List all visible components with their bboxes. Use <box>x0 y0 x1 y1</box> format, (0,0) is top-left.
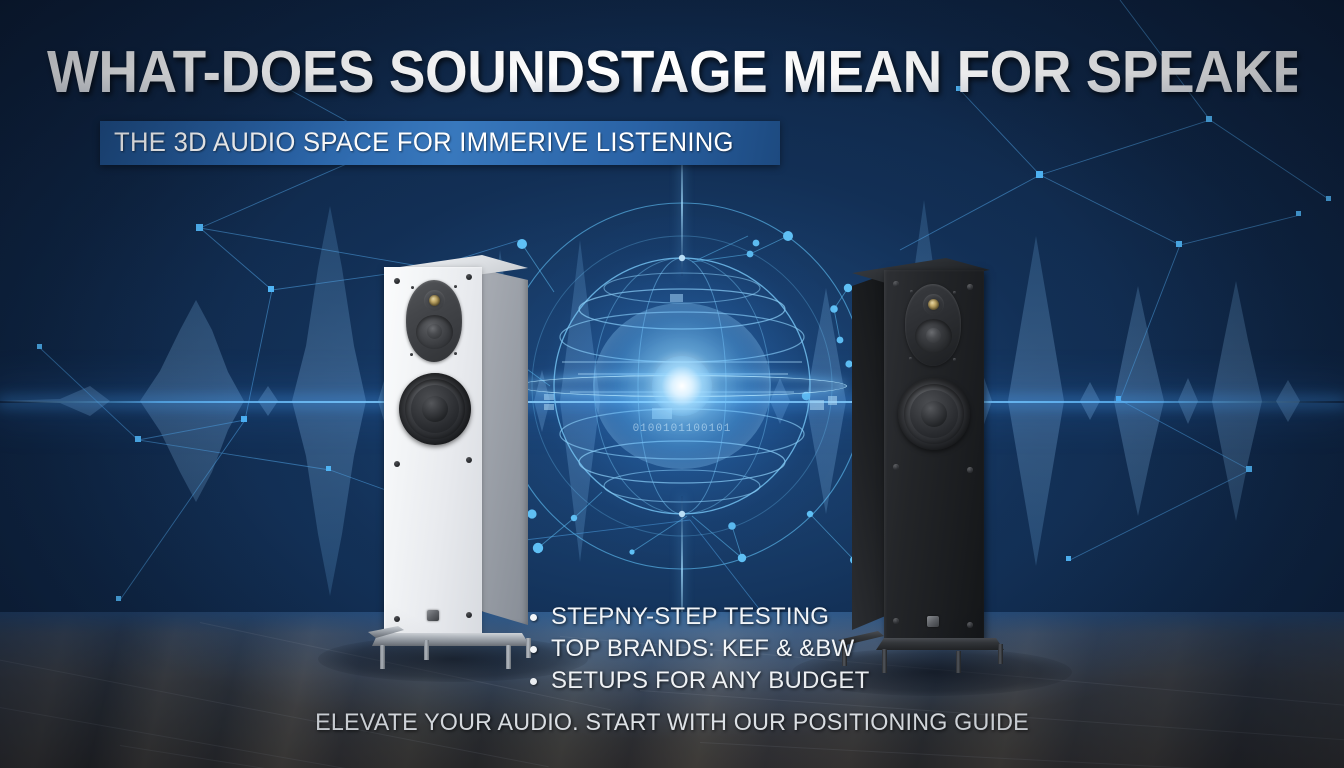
right-speaker-black <box>838 258 1003 658</box>
call-to-action-tagline: ELEVATE YOUR AUDIO. START WITH OUR POSIT… <box>20 709 1324 737</box>
poster-canvas: 0100101100101 <box>0 0 1344 768</box>
cabinet-screw <box>893 464 899 470</box>
cabinet-screw <box>394 461 400 467</box>
right-speaker-plinth <box>876 638 1004 650</box>
cabinet-screw <box>893 281 899 287</box>
baffle-screw <box>909 357 912 360</box>
left-speaker-woofer-dustcap <box>422 396 448 422</box>
speaker-spike-foot <box>956 651 961 673</box>
holographic-audio-sphere: 0100101100101 <box>492 196 872 576</box>
bullet-label: STEPNY-STEP TESTING <box>551 603 829 631</box>
speaker-spike-foot <box>506 645 511 669</box>
right-speaker-tweeter <box>928 299 939 310</box>
cabinet-screw <box>893 618 899 624</box>
cabinet-screw <box>466 612 472 618</box>
cabinet-screw <box>394 616 400 622</box>
bullet-label: TOP BRANDS: KEF & &BW <box>551 635 854 663</box>
cabinet-screw <box>394 278 400 284</box>
baffle-screw <box>953 291 956 294</box>
bullet-dot-icon <box>530 614 537 621</box>
feature-bullet-list: STEPNY-STEP TESTING TOP BRANDS: KEF & &B… <box>530 601 870 697</box>
cabinet-screw <box>967 467 973 473</box>
cabinet-screw <box>967 284 973 290</box>
bullet-label: SETUPS FOR ANY BUDGET <box>551 667 870 695</box>
cabinet-screw <box>967 622 973 628</box>
left-speaker-tweeter <box>429 295 440 306</box>
baffle-screw <box>411 286 414 289</box>
speaker-spike-foot <box>882 649 887 673</box>
baffle-screw <box>454 285 457 288</box>
list-item: SETUPS FOR ANY BUDGET <box>530 665 870 697</box>
right-speaker-midrange-dome <box>926 328 941 343</box>
sphere-hot-center <box>652 356 712 416</box>
right-speaker-side-panel <box>852 274 886 630</box>
left-speaker-white <box>378 255 538 655</box>
subtitle-banner: THE 3D AUDIO SPACE FOR IMMERIVE LISTENIN… <box>100 121 780 165</box>
page-title: WHAT-DOES SOUNDSTAGE MEAN FOR SPEAKERS? <box>47 38 1297 106</box>
baffle-screw <box>410 353 413 356</box>
list-item: TOP BRANDS: KEF & &BW <box>530 633 870 665</box>
cabinet-screw <box>466 457 472 463</box>
baffle-screw <box>454 352 457 355</box>
bullet-dot-icon <box>530 646 537 653</box>
baffle-screw <box>910 290 913 293</box>
right-speaker-woofer-dustcap <box>921 401 947 427</box>
bullet-dot-icon <box>530 678 537 685</box>
hologram-binary-text: 0100101100101 <box>633 423 732 435</box>
speaker-spike-foot <box>380 645 385 669</box>
right-speaker-brand-badge <box>927 616 939 627</box>
left-speaker-brand-badge <box>427 610 439 621</box>
cabinet-screw <box>466 274 472 280</box>
left-speaker-midrange-dome <box>427 324 442 339</box>
speaker-spike-foot <box>998 644 1003 664</box>
speaker-spike-foot <box>424 640 429 660</box>
baffle-screw <box>953 358 956 361</box>
list-item: STEPNY-STEP TESTING <box>530 601 870 633</box>
left-speaker-side-panel <box>480 269 528 625</box>
subtitle-text: THE 3D AUDIO SPACE FOR IMMERIVE LISTENIN… <box>114 127 734 158</box>
